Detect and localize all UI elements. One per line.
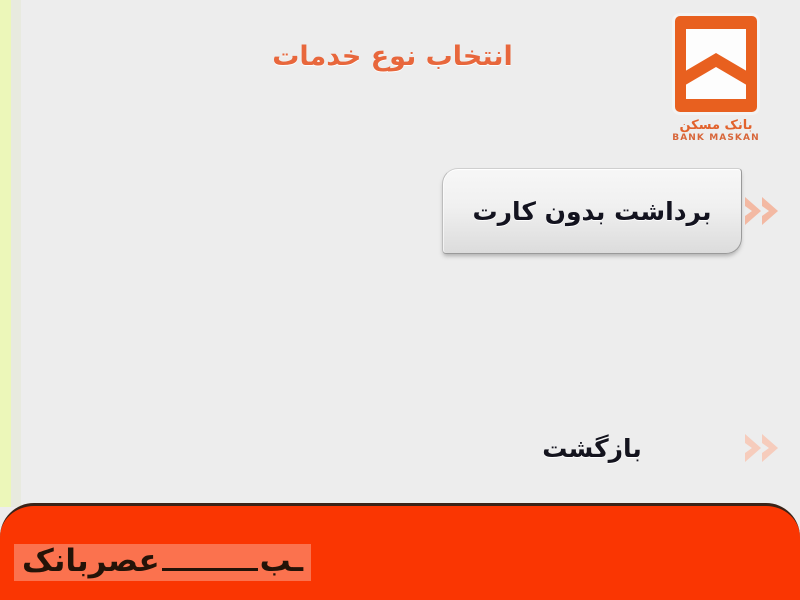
option-row-cardless-withdrawal[interactable]: برداشت بدون کارت [442,168,786,254]
logo-roof-chevron-icon [686,53,746,87]
left-edge-strip-outer [0,0,11,507]
left-edge-strip-inner [11,0,21,507]
watermark-asrbank: ـب عصربانک [14,544,311,581]
page-title-text: انتخاب نوع خدمات [220,42,565,72]
watermark-text: عصربانک [22,546,160,577]
bank-logo: بانک مسکن BANK MASKAN [654,16,778,143]
atm-screen: انتخاب نوع خدمات بانک مسکن BANK MASKAN ب… [0,0,800,600]
option-row-back[interactable]: بازگشت [442,425,786,471]
page-title: انتخاب نوع خدمات [220,42,565,72]
cardless-withdrawal-button[interactable]: برداشت بدون کارت [442,168,742,254]
double-chevron-left-icon [742,425,786,471]
watermark-tail-stroke [162,568,258,571]
cardless-withdrawal-label: برداشت بدون کارت [473,199,712,224]
watermark-hook: ـب [260,546,303,577]
double-chevron-left-icon [742,188,786,234]
bank-name-fa: بانک مسکن [654,119,778,133]
bottom-banner: ـب عصربانک [0,503,800,600]
double-chevron-left-glyph [743,428,785,468]
logo-inner-frame [686,29,746,99]
back-button-label[interactable]: بازگشت [442,436,742,461]
bank-name-en: BANK MASKAN [654,133,778,144]
bank-maskan-house-logo-icon [675,16,757,112]
double-chevron-left-glyph [743,191,785,231]
